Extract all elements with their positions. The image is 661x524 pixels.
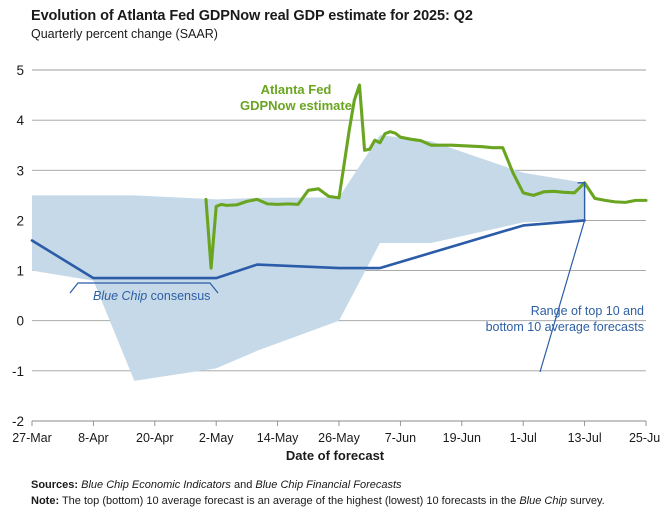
x-tick-label: 19-Jun bbox=[443, 431, 481, 445]
x-tick-label: 1-Jul bbox=[510, 431, 537, 445]
y-tick-label: 2 bbox=[16, 213, 24, 228]
y-tick-label: 4 bbox=[16, 113, 24, 128]
chart-svg: -2-1012345 27-Mar8-Apr20-Apr2-May14-May2… bbox=[0, 0, 661, 470]
x-tick-label: 8-Apr bbox=[78, 431, 109, 445]
note-label: Note: bbox=[31, 495, 59, 507]
sources-pub-1: Blue Chip Economic Indicators bbox=[81, 479, 231, 491]
x-tick-label: 14-May bbox=[257, 431, 299, 445]
footnote-sources: Sources: Blue Chip Economic Indicators a… bbox=[31, 478, 641, 494]
annotation-range-line2: bottom 10 average forecasts bbox=[486, 320, 644, 334]
y-tick-label: 3 bbox=[16, 163, 24, 178]
y-tick-label: 0 bbox=[16, 314, 24, 329]
annotation-gdpnow-line2: GDPNow estimate bbox=[240, 98, 352, 113]
footnote-note: Note: The top (bottom) 10 average foreca… bbox=[31, 494, 641, 510]
sources-label: Sources: bbox=[31, 479, 78, 491]
x-axis-title: Date of forecast bbox=[286, 448, 385, 463]
y-tick-label: -1 bbox=[12, 364, 24, 379]
y-tick-label: 5 bbox=[16, 63, 24, 78]
x-tick-label: 7-Jun bbox=[385, 431, 416, 445]
footnotes: Sources: Blue Chip Economic Indicators a… bbox=[31, 478, 641, 509]
annotation-consensus-rest: consensus bbox=[147, 289, 210, 303]
y-tick-label: 1 bbox=[16, 264, 24, 279]
note-post: survey. bbox=[567, 495, 605, 507]
x-tick-label: 13-Jul bbox=[568, 431, 602, 445]
x-axis-ticks: 27-Mar8-Apr20-Apr2-May14-May26-May7-Jun1… bbox=[12, 421, 661, 445]
sources-pub-2: Blue Chip Financial Forecasts bbox=[255, 479, 401, 491]
x-tick-label: 27-Mar bbox=[12, 431, 52, 445]
note-em: Blue Chip bbox=[519, 495, 567, 507]
y-tick-label: -2 bbox=[12, 414, 24, 429]
annotation-gdpnow-line1: Atlanta Fed bbox=[261, 82, 332, 97]
forecast-range-band bbox=[32, 135, 585, 381]
annotation-blue-chip-em: Blue Chip bbox=[93, 289, 147, 303]
x-tick-label: 2-May bbox=[199, 431, 234, 445]
annotation-blue-chip-consensus: Blue Chip consensus bbox=[93, 289, 210, 303]
y-axis-ticks: -2-1012345 bbox=[12, 63, 25, 429]
annotation-range-line1: Range of top 10 and bbox=[531, 304, 644, 318]
range-band-area bbox=[32, 135, 585, 381]
chart-root: Evolution of Atlanta Fed GDPNow real GDP… bbox=[0, 0, 661, 524]
x-tick-label: 20-Apr bbox=[136, 431, 174, 445]
range-annotation-leader bbox=[540, 220, 585, 372]
x-tick-label: 25-Jul bbox=[629, 431, 661, 445]
sources-and: and bbox=[231, 479, 255, 491]
x-tick-label: 26-May bbox=[318, 431, 360, 445]
note-pre: The top (bottom) 10 average forecast is … bbox=[59, 495, 519, 507]
